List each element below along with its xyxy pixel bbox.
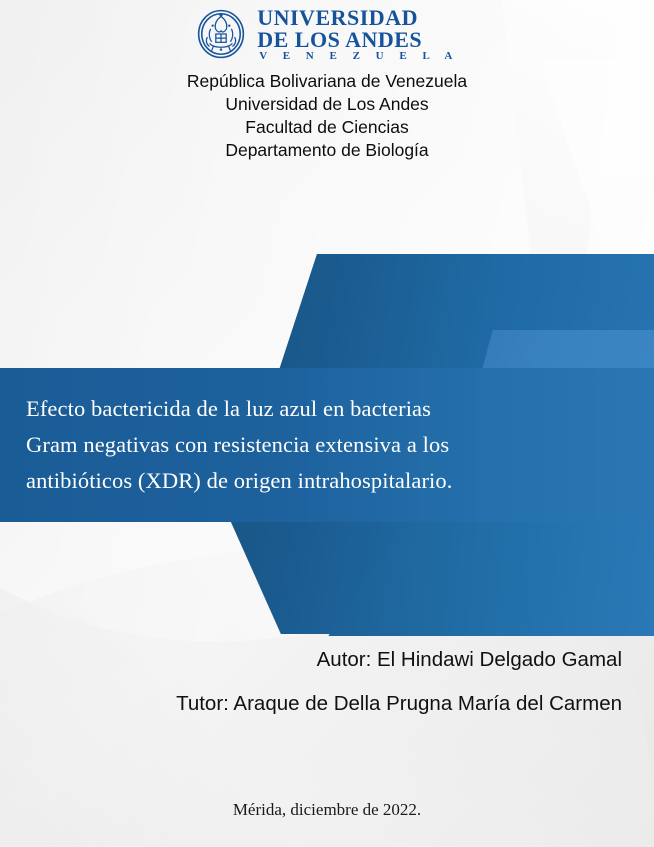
- wordmark-line-3: V E N E Z U E L A: [257, 51, 459, 62]
- title-line-3: antibióticos (XDR) de origen intrahospit…: [26, 463, 628, 499]
- wordmark-line-2: DE LOS ANDES: [257, 29, 459, 51]
- title-band: Efecto bactericida de la luz azul en bac…: [0, 368, 654, 522]
- title-line-2: Gram negativas con resistencia extensiva…: [26, 427, 628, 463]
- university-seal-icon: [195, 8, 247, 60]
- university-logo: UNIVERSIDAD DE LOS ANDES V E N E Z U E L…: [0, 6, 654, 62]
- credits-block: Autor: El Hindawi Delgado Gamal Tutor: A…: [0, 645, 654, 719]
- place-and-date: Mérida, diciembre de 2022.: [0, 800, 654, 820]
- thesis-title: Efecto bactericida de la luz azul en bac…: [0, 391, 654, 499]
- affiliation-line-country: República Bolivariana de Venezuela: [0, 70, 654, 93]
- tutor-line: Tutor: Araque de Della Prugna María del …: [0, 689, 622, 719]
- author-line: Autor: El Hindawi Delgado Gamal: [0, 645, 622, 675]
- university-wordmark: UNIVERSIDAD DE LOS ANDES V E N E Z U E L…: [257, 7, 459, 62]
- wordmark-line-1: UNIVERSIDAD: [257, 7, 459, 29]
- affiliation-line-department: Departamento de Biología: [0, 139, 654, 162]
- thesis-cover-page: UNIVERSIDAD DE LOS ANDES V E N E Z U E L…: [0, 0, 654, 847]
- affiliation-line-university: Universidad de Los Andes: [0, 93, 654, 116]
- header-block: UNIVERSIDAD DE LOS ANDES V E N E Z U E L…: [0, 0, 654, 162]
- affiliation-line-faculty: Facultad de Ciencias: [0, 116, 654, 139]
- affiliation-block: República Bolivariana de Venezuela Unive…: [0, 70, 654, 162]
- title-line-1: Efecto bactericida de la luz azul en bac…: [26, 391, 628, 427]
